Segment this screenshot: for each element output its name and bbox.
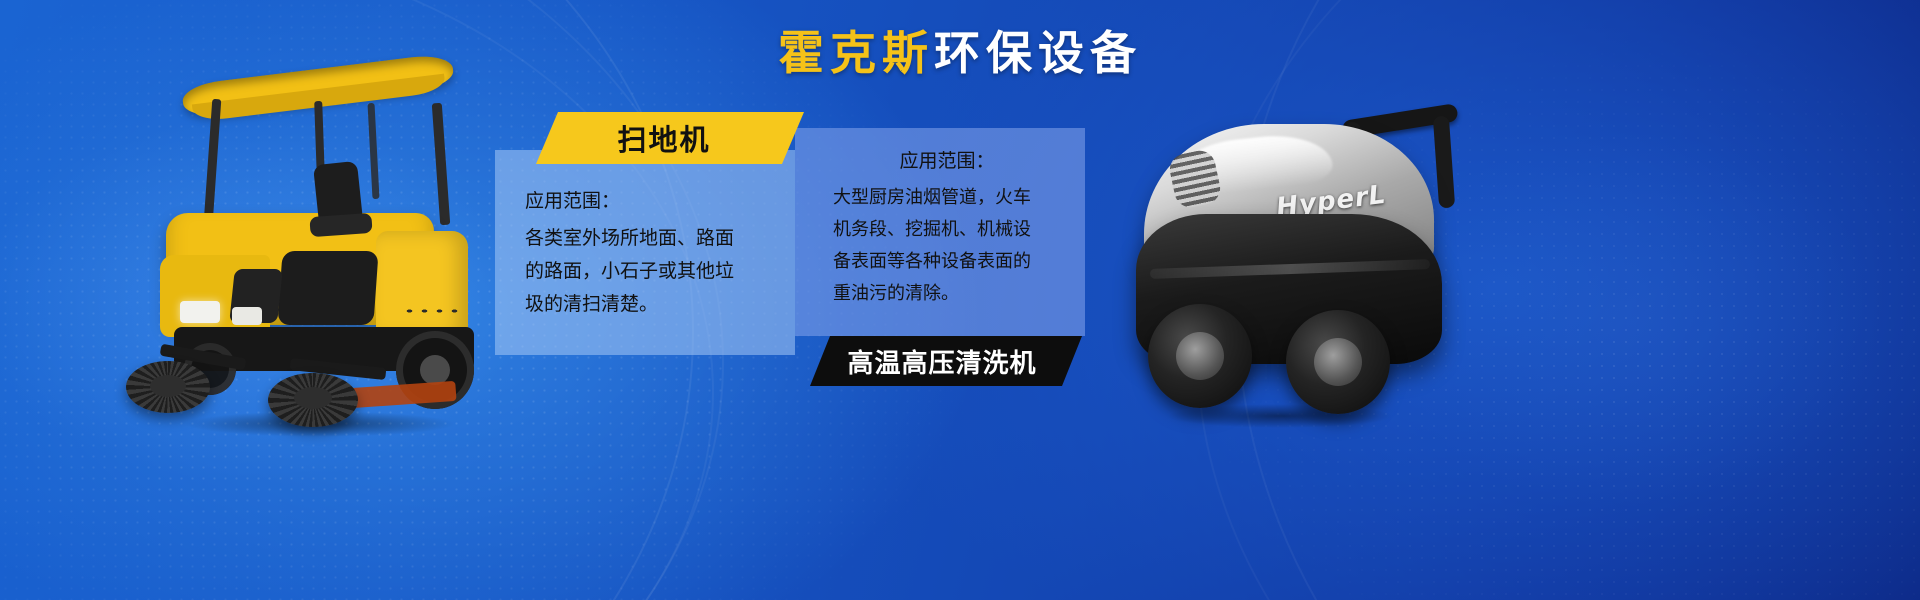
washer-handle-leg-right	[1433, 116, 1455, 209]
sweeper-brush-cap-left	[150, 375, 186, 397]
washer-body-line-1: 大型厨房油烟管道，火车	[833, 182, 1067, 214]
product-image-pressure-washer: HyperL	[1090, 88, 1470, 428]
product-panel-washer: 应用范围： 大型厨房油烟管道，火车 机务段、挖掘机、机械设 备表面等各种设备表面…	[795, 128, 1085, 336]
sweeper-roof-post-right	[432, 103, 450, 225]
washer-rim-left	[1176, 332, 1224, 380]
product-tag-sweeper-label: 扫地机	[617, 117, 710, 159]
washer-rim-right	[1314, 338, 1362, 386]
sweeper-panel-body: 各类室外场所地面、路面 的路面，小石子或其他垃 圾的清扫清楚。	[525, 222, 773, 321]
sweeper-rear-bolts	[402, 307, 462, 315]
washer-body-line-4: 重油污的清除。	[833, 278, 1067, 310]
product-panel-sweeper: 应用范围： 各类室外场所地面、路面 的路面，小石子或其他垃 圾的清扫清楚。	[495, 150, 795, 355]
washer-body-line-3: 备表面等各种设备表面的	[833, 246, 1067, 278]
product-tag-sweeper[interactable]: 扫地机	[536, 112, 804, 164]
sweeper-body-line-2: 的路面，小石子或其他垃	[525, 255, 773, 288]
sweeper-brush-cap-right	[294, 387, 332, 409]
washer-body-line-2: 机务段、挖掘机、机械设	[833, 214, 1067, 246]
sweeper-panel-heading: 应用范围：	[525, 186, 773, 216]
washer-panel-body: 大型厨房油烟管道，火车 机务段、挖掘机、机械设 备表面等各种设备表面的 重油污的…	[833, 182, 1067, 310]
washer-ground-shadow	[1130, 400, 1430, 432]
title-white-part: 环保设备	[934, 26, 1142, 80]
sweeper-side-panel	[277, 251, 378, 325]
sweeper-roof-post-mid2	[367, 103, 379, 199]
washer-panel-heading: 应用范围：	[833, 146, 1067, 176]
sweeper-body-line-3: 圾的清扫清楚。	[525, 288, 773, 321]
product-tag-washer-label: 高温高压清洗机	[847, 343, 1036, 380]
title-gold-part: 霍克斯	[778, 26, 934, 80]
sweeper-body-line-1: 各类室外场所地面、路面	[525, 222, 773, 255]
product-tag-washer[interactable]: 高温高压清洗机	[810, 336, 1082, 386]
sweeper-rear-body	[376, 231, 468, 339]
promo-banner: 霍克斯环保设备	[0, 0, 1920, 600]
product-image-ride-on-sweeper	[120, 55, 520, 415]
sweeper-headlight-left	[180, 301, 220, 323]
sweeper-headlight-right	[232, 307, 262, 325]
